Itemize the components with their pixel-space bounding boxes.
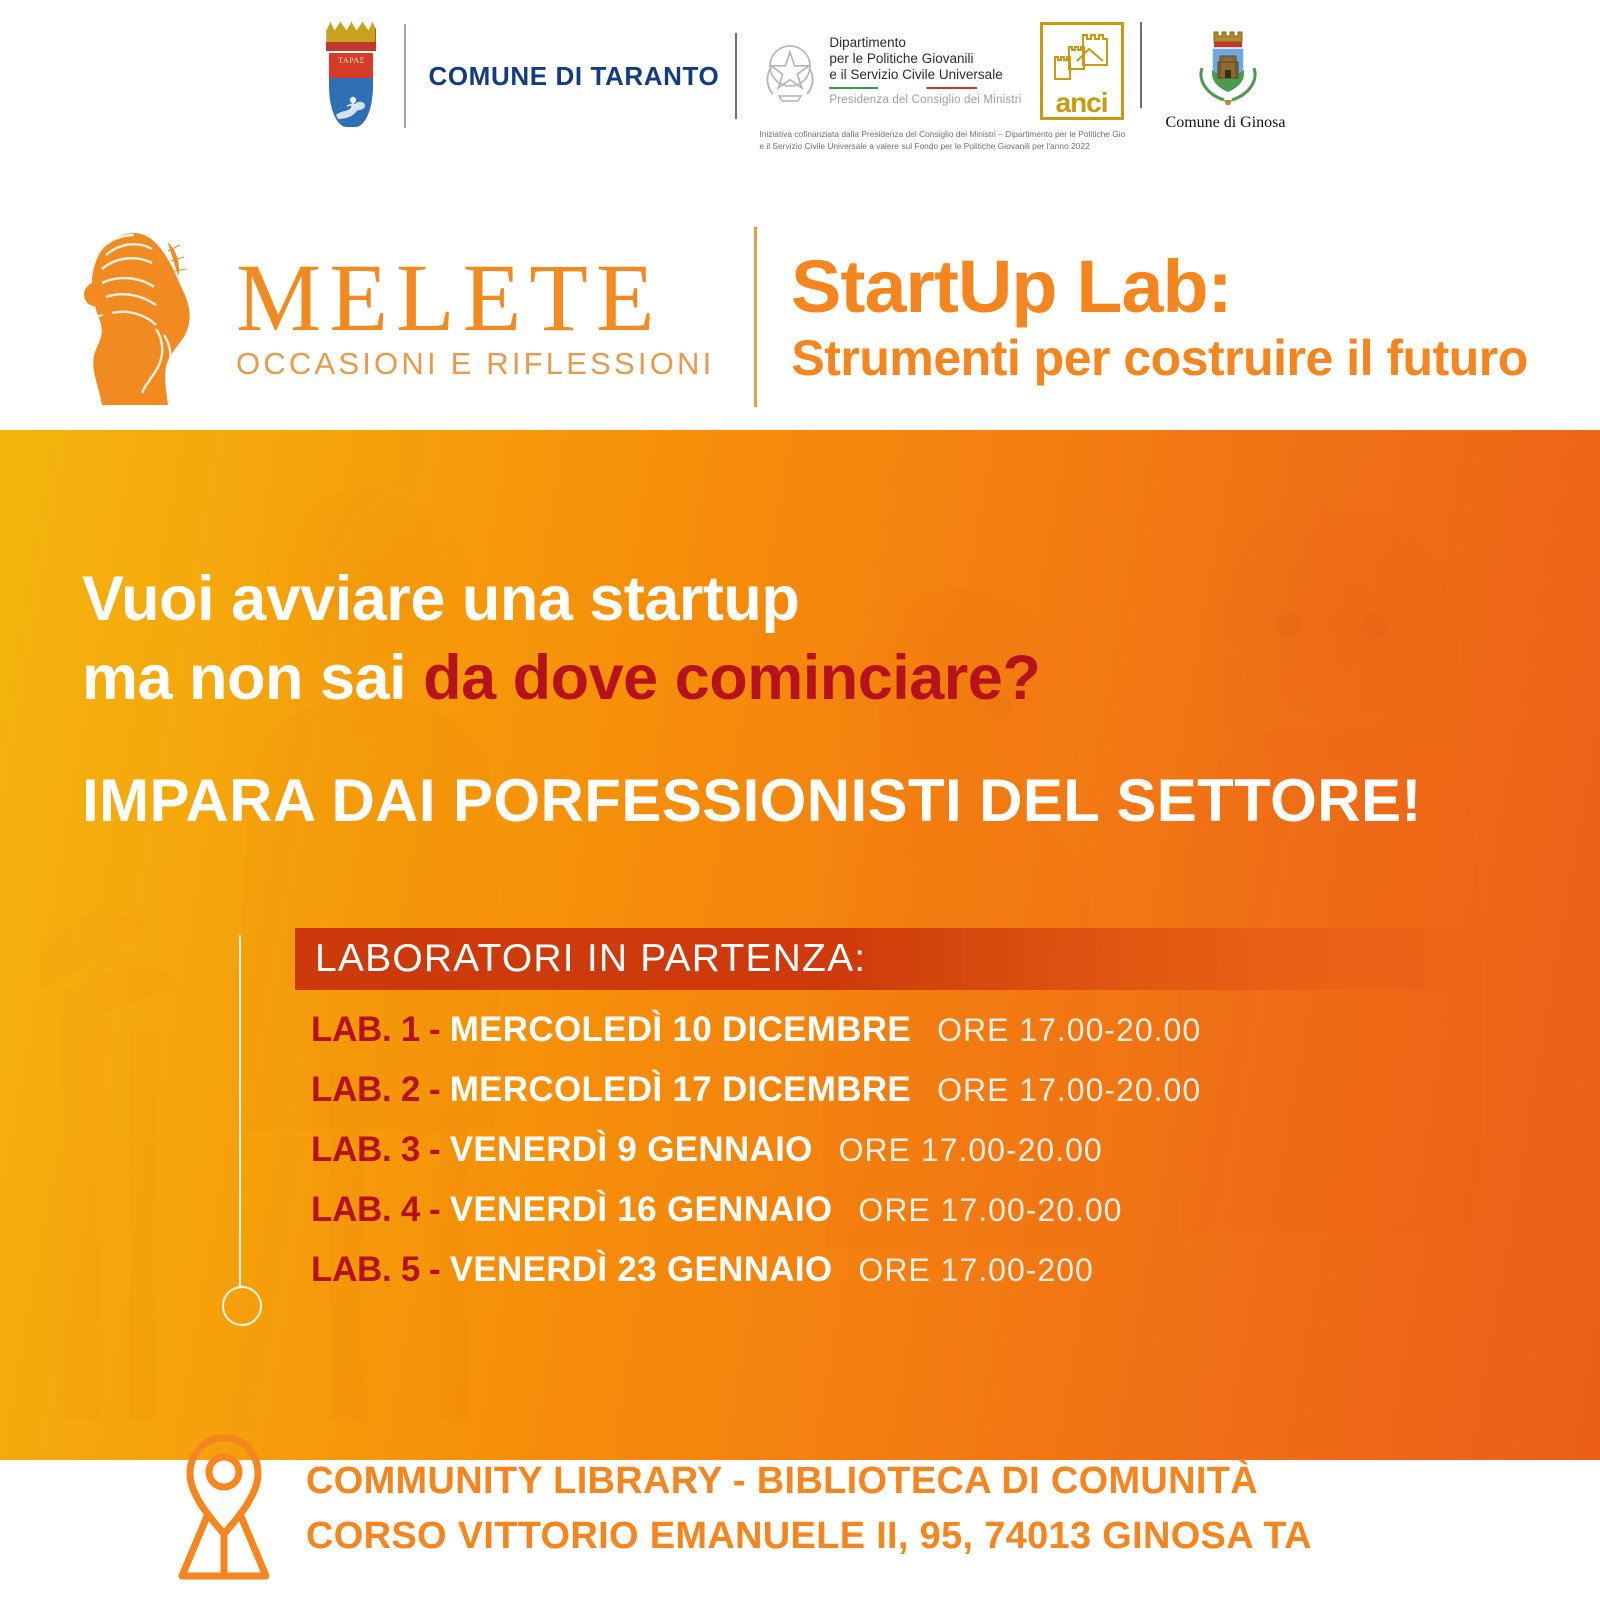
lab-date: MERCOLEDÌ 17 DICEMBRE [450, 1070, 911, 1110]
lab-number: LAB. 1 [311, 1010, 420, 1050]
labs-section: LABORATORI IN PARTENZA: LAB. 1 - MERCOLE… [295, 928, 1495, 1290]
hero-band: Vuoi avviare una startup ma non sai da d… [0, 430, 1600, 1460]
melete-tagline: OCCASIONI E RIFLESSIONI [236, 346, 714, 382]
venue-name: COMMUNITY LIBRARY - BIBLIOTECA DI COMUNI… [306, 1454, 1312, 1509]
ginosa-coat-of-arms-icon [1184, 22, 1268, 110]
taranto-crest-motto: ΤΑΡΑΣ [329, 56, 373, 65]
lab-date: VENERDÌ 23 GENNAIO [450, 1250, 833, 1290]
lab-date: MERCOLEDÌ 10 DICEMBRE [450, 1010, 911, 1050]
brand-divider [754, 227, 757, 407]
program-subtitle: Strumenti per costruire il futuro [791, 332, 1527, 385]
lab-number: LAB. 4 [311, 1190, 420, 1230]
lab-row: LAB. 4 - VENERDÌ 16 GENNAIO ORE 17.00-20… [295, 1190, 1495, 1230]
italian-republic-emblem-icon [759, 38, 821, 104]
poster-root: ΤΑΡΑΣ COMUNE DI TARANTO [0, 0, 1600, 1600]
melete-wordmark: MELETE [236, 252, 714, 343]
comune-ginosa-label: Comune di Ginosa [1166, 114, 1286, 132]
lab-separator: - [429, 1130, 441, 1170]
muse-profile-icon [72, 225, 222, 410]
anci-label: anci [1056, 90, 1108, 115]
lab-number: LAB. 3 [311, 1130, 420, 1170]
lab-separator: - [429, 1250, 441, 1290]
funding-fineprint: Iniziativa cofinanziata dalla Presidenza… [759, 128, 1089, 152]
department-line-2: per le Politiche Giovanili [829, 51, 1021, 67]
department-subtitle: Presidenza del Consiglio dei Ministri [829, 93, 1021, 107]
comune-ginosa-logo: Comune di Ginosa [1166, 22, 1286, 132]
hero-line-1: Vuoi avviare una startup [82, 560, 1422, 639]
program-title: StartUp Lab: [791, 250, 1542, 324]
department-logo-block: Dipartimento per le Politiche Giovanili … [759, 22, 1123, 152]
tricolor-underline [829, 87, 977, 90]
hero-line-3: IMPARA DAI PORFESSIONISTI DEL SETTORE! [82, 766, 1422, 835]
lab-time: ORE 17.00-20.00 [937, 1072, 1201, 1109]
lab-date: VENERDÌ 16 GENNAIO [450, 1190, 833, 1230]
lab-separator: - [429, 1190, 441, 1230]
melete-logo: MELETE OCCASIONI E RIFLESSIONI [72, 225, 714, 410]
lab-row: LAB. 5 - VENERDÌ 23 GENNAIO ORE 17.00-20… [295, 1250, 1495, 1290]
institutional-logo-strip: ΤΑΡΑΣ COMUNE DI TARANTO [0, 22, 1600, 172]
logo-divider [735, 33, 737, 119]
venue-footer: COMMUNITY LIBRARY - BIBLIOTECA DI COMUNI… [0, 1430, 1600, 1600]
hero-line-2: ma non sai da dove cominciare? [82, 639, 1422, 718]
venue-address: CORSO VITTORIO EMANUELE II, 95, 74013 GI… [306, 1509, 1312, 1564]
labs-section-header: LABORATORI IN PARTENZA: [295, 928, 1495, 990]
venue-text-block: COMMUNITY LIBRARY - BIBLIOTECA DI COMUNI… [306, 1454, 1312, 1564]
lab-time: ORE 17.00-20.00 [937, 1012, 1201, 1049]
anci-logo: anci [1040, 22, 1124, 120]
lab-number: LAB. 5 [311, 1250, 420, 1290]
brand-header-row: MELETE OCCASIONI E RIFLESSIONI StartUp L… [0, 212, 1600, 422]
lab-row: LAB. 1 - MERCOLEDÌ 10 DICEMBRE ORE 17.00… [295, 1010, 1495, 1050]
hero-line-2-highlight: da dove cominciare? [423, 643, 1040, 713]
timeline-decoration [231, 935, 262, 1326]
logo-divider [1140, 22, 1142, 108]
program-title-block: StartUp Lab: Strumenti per costruire il … [791, 250, 1527, 385]
comune-taranto-label: COMUNE DI TARANTO [428, 61, 719, 92]
department-line-1: Dipartimento [829, 35, 1021, 51]
lab-time: ORE 17.00-200 [858, 1252, 1093, 1289]
lab-time: ORE 17.00-20.00 [858, 1192, 1122, 1229]
lab-row: LAB. 3 - VENERDÌ 9 GENNAIO ORE 17.00-20.… [295, 1130, 1495, 1170]
lab-number: LAB. 2 [311, 1070, 420, 1110]
timeline-end-dot [222, 1286, 262, 1326]
lab-separator: - [429, 1070, 441, 1110]
logo-divider [404, 24, 406, 128]
hero-line-2-white: ma non sai [82, 643, 406, 713]
lab-separator: - [429, 1010, 441, 1050]
department-line-3: e il Servizio Civile Universale [829, 67, 1021, 83]
labs-section-title: LABORATORI IN PARTENZA: [315, 937, 866, 981]
dolphin-rider-icon [334, 93, 368, 121]
lab-row: LAB. 2 - MERCOLEDÌ 17 DICEMBRE ORE 17.00… [295, 1070, 1495, 1110]
funding-fineprint-line-2: e il Servizio Civile Universale a valere… [759, 140, 1089, 152]
comune-taranto-logo: ΤΑΡΑΣ COMUNE DI TARANTO [314, 22, 753, 130]
timeline-line [239, 935, 241, 1287]
lab-date: VENERDÌ 9 GENNAIO [450, 1130, 813, 1170]
lab-time: ORE 17.00-20.00 [839, 1132, 1103, 1169]
hero-headline: Vuoi avviare una startup ma non sai da d… [82, 560, 1422, 835]
location-pin-icon [168, 1430, 280, 1580]
funding-fineprint-line-1: Iniziativa cofinanziata dalla Presidenza… [759, 128, 1089, 140]
taranto-coat-of-arms-icon: ΤΑΡΑΣ [320, 22, 382, 130]
anci-towers-icon [1049, 31, 1115, 87]
